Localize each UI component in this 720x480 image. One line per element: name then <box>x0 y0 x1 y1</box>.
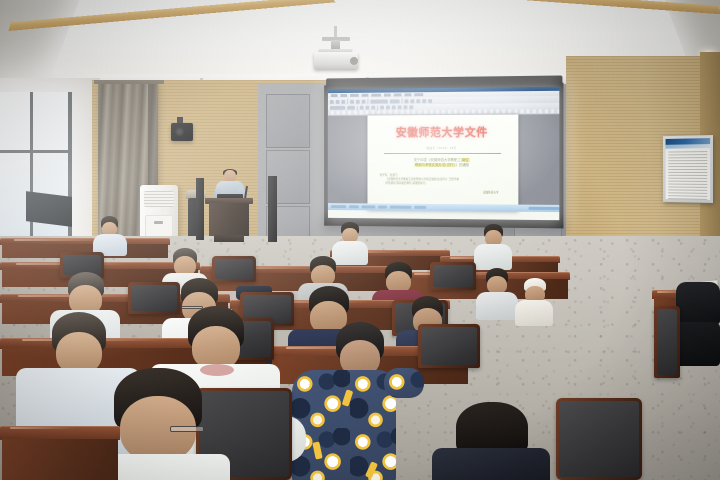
chair-back <box>654 306 680 378</box>
wall-poster-inner <box>666 138 711 200</box>
wall-poster-text <box>668 151 707 200</box>
podium-base <box>214 235 244 242</box>
desk-row <box>0 426 120 480</box>
audience-person <box>292 322 404 480</box>
chair-back <box>430 262 476 290</box>
document-heading-highlight-2: 聘用与考核实施办法(试行) <box>414 163 456 167</box>
wall-poster <box>663 135 713 203</box>
document-body: 各学院、各部门: 《安徽师范大学教职工岗位聘用与考核实施办法(试行)》已经学校 … <box>380 174 505 186</box>
document-heading: 关于印发《安徽师范大学教职工岗位 聘用与考核实施办法(试行)》的通知 <box>381 158 504 168</box>
ceiling-projector <box>314 48 358 70</box>
projection-screen: 安徽师范大学文件 校政字〔2018〕18号 关于印发《安徽师范大学教职工岗位 聘… <box>324 83 563 229</box>
speaker-tower-right <box>268 176 277 242</box>
window-mullion-horizontal <box>0 150 72 153</box>
person-torso <box>515 300 553 326</box>
person-torso-floral <box>292 370 396 480</box>
glasses-icon <box>170 426 204 432</box>
document-heading-highlight-1: 岗位 <box>461 158 470 162</box>
chair-back <box>556 398 642 480</box>
document-heading-before: 关于印发《安徽师范大学教职工 <box>414 158 461 162</box>
document-number: 校政字〔2018〕18号 <box>427 146 457 150</box>
audience-person <box>472 224 514 262</box>
audience-person <box>514 278 554 322</box>
word-document-area: 安徽师范大学文件 校政字〔2018〕18号 关于印发《安徽师范大学教职工岗位 聘… <box>328 114 559 212</box>
acoustic-tile <box>266 94 310 148</box>
person-torso <box>432 448 550 480</box>
projection-screen-surface: 安徽师范大学文件 校政字〔2018〕18号 关于印发《安徽师范大学教职工岗位 聘… <box>328 87 559 220</box>
projector-lens-icon <box>350 57 358 65</box>
document-divider <box>383 153 500 154</box>
person-arm-floral <box>384 368 424 398</box>
audience-person <box>432 402 552 480</box>
person-torso <box>476 292 518 320</box>
document-signature: 安徽师范大学 <box>483 190 499 194</box>
audience-person <box>330 222 370 258</box>
document-body-label: 各学院、各部门: <box>380 174 399 177</box>
word-statusbar <box>328 203 559 212</box>
podium <box>205 198 253 242</box>
lecture-hall-photo: 安徽师范大学文件 校政字〔2018〕18号 关于印发《安徽师范大学教职工岗位 聘… <box>0 0 720 480</box>
desk-row <box>0 238 170 250</box>
document-body-line-2: 研究通过,现印发给你们,请遵照执行。 <box>380 182 505 187</box>
person-torso <box>676 282 720 324</box>
wall-speaker <box>171 123 193 141</box>
person-torso <box>474 244 512 270</box>
side-board <box>26 191 72 227</box>
document-heading-after: 》的通知 <box>456 163 470 167</box>
chair-back <box>418 324 480 368</box>
word-page: 安徽师范大学文件 校政字〔2018〕18号 关于印发《安徽师范大学教职工岗位 聘… <box>367 115 518 212</box>
air-conditioner-vent <box>144 191 174 207</box>
air-conditioner-display <box>154 221 163 224</box>
speaker-tower-left <box>196 178 204 240</box>
audience-person <box>92 216 128 250</box>
document-title: 安徽师范大学文件 <box>396 126 488 139</box>
podium-body <box>209 203 249 236</box>
wall-poster-header <box>666 138 711 149</box>
